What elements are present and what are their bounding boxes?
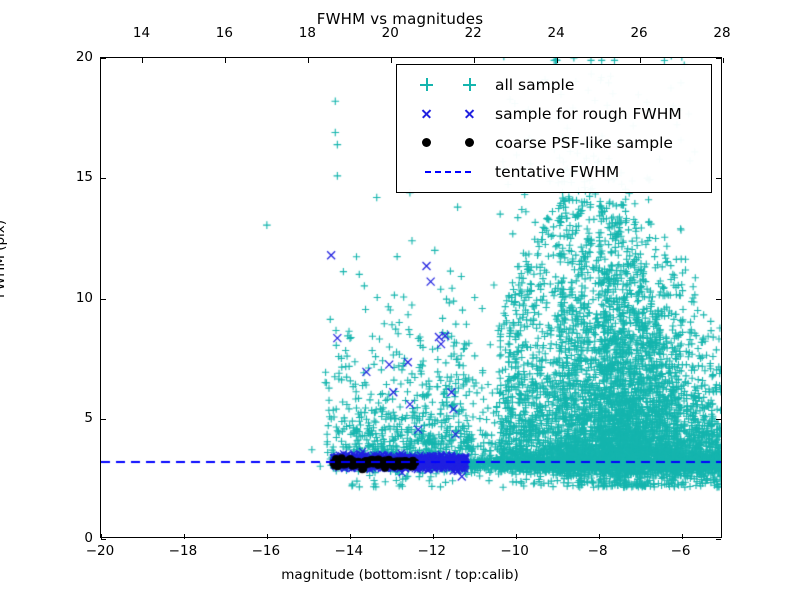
dot-icon	[422, 138, 431, 147]
top-x-tick	[557, 58, 558, 63]
chart-title: FWHM vs magnitudes	[0, 10, 800, 28]
top-x-tick	[474, 58, 475, 63]
x-tick-label: −18	[169, 543, 198, 559]
top-x-tick-label: 20	[382, 25, 399, 41]
top-x-tick	[391, 58, 392, 63]
legend-label: tentative FWHM	[491, 163, 619, 181]
legend-label: all sample	[491, 76, 574, 94]
x-tick	[682, 534, 683, 539]
top-x-tick	[723, 58, 724, 63]
y-tick-right	[716, 539, 721, 540]
legend-label: coarse PSF-like sample	[491, 134, 673, 152]
x-tick	[599, 534, 600, 539]
figure-canvas: FWHM vs magnitudes −20−18−16−14−12−10−8−…	[0, 0, 800, 600]
y-axis-label: FWHM (pix)	[0, 220, 8, 298]
cross-icon	[464, 108, 475, 119]
y-tick-label: 5	[84, 410, 93, 426]
y-tick-label: 10	[76, 290, 93, 306]
legend-marker-group	[405, 108, 491, 119]
plus-icon	[420, 78, 433, 91]
y-tick	[101, 178, 106, 179]
x-tick	[516, 534, 517, 539]
x-tick-label: −16	[252, 543, 281, 559]
top-x-tick	[225, 58, 226, 63]
dot-icon	[465, 138, 474, 147]
legend-item-tentative-fwhm: tentative FWHM	[405, 157, 703, 186]
top-x-tick	[308, 58, 309, 63]
y-tick-right	[716, 419, 721, 420]
legend-label: sample for rough FWHM	[491, 105, 682, 123]
y-tick	[101, 299, 106, 300]
cross-icon	[421, 108, 432, 119]
top-x-tick-label: 22	[465, 25, 482, 41]
legend-item-coarse-psf: coarse PSF-like sample	[405, 128, 703, 157]
y-tick-label: 20	[76, 49, 93, 65]
y-tick	[101, 58, 106, 59]
x-tick	[184, 534, 185, 539]
top-x-tick-label: 18	[299, 25, 316, 41]
top-x-tick-label: 24	[548, 25, 565, 41]
y-tick	[101, 539, 106, 540]
y-tick	[101, 419, 106, 420]
y-tick-label: 15	[76, 169, 93, 185]
top-x-tick-label: 26	[630, 25, 647, 41]
top-x-tick-label: 28	[713, 25, 730, 41]
y-tick-right	[716, 299, 721, 300]
top-x-tick-label: 14	[133, 25, 150, 41]
y-tick-right	[716, 178, 721, 179]
y-tick-right	[716, 58, 721, 59]
legend: all sample sample for rough FWHM coarse …	[396, 64, 712, 193]
legend-marker-group	[405, 78, 491, 91]
x-tick-label: −14	[335, 543, 364, 559]
x-tick-label: −12	[417, 543, 446, 559]
legend-marker-group	[405, 138, 491, 147]
x-tick-label: −8	[588, 543, 608, 559]
top-x-tick	[640, 58, 641, 63]
x-axis-label: magnitude (bottom:isnt / top:calib)	[0, 567, 800, 583]
x-tick	[350, 534, 351, 539]
top-x-tick-label: 16	[216, 25, 233, 41]
x-tick	[267, 534, 268, 539]
top-x-tick	[142, 58, 143, 63]
legend-item-rough-fwhm: sample for rough FWHM	[405, 99, 703, 128]
y-tick-label: 0	[84, 530, 93, 546]
x-tick-label: −10	[500, 543, 529, 559]
x-tick-label: −6	[671, 543, 691, 559]
legend-marker-group	[405, 171, 491, 173]
legend-item-all-sample: all sample	[405, 70, 703, 99]
dashed-line-icon	[425, 171, 471, 173]
plus-icon	[463, 78, 476, 91]
x-tick	[433, 534, 434, 539]
